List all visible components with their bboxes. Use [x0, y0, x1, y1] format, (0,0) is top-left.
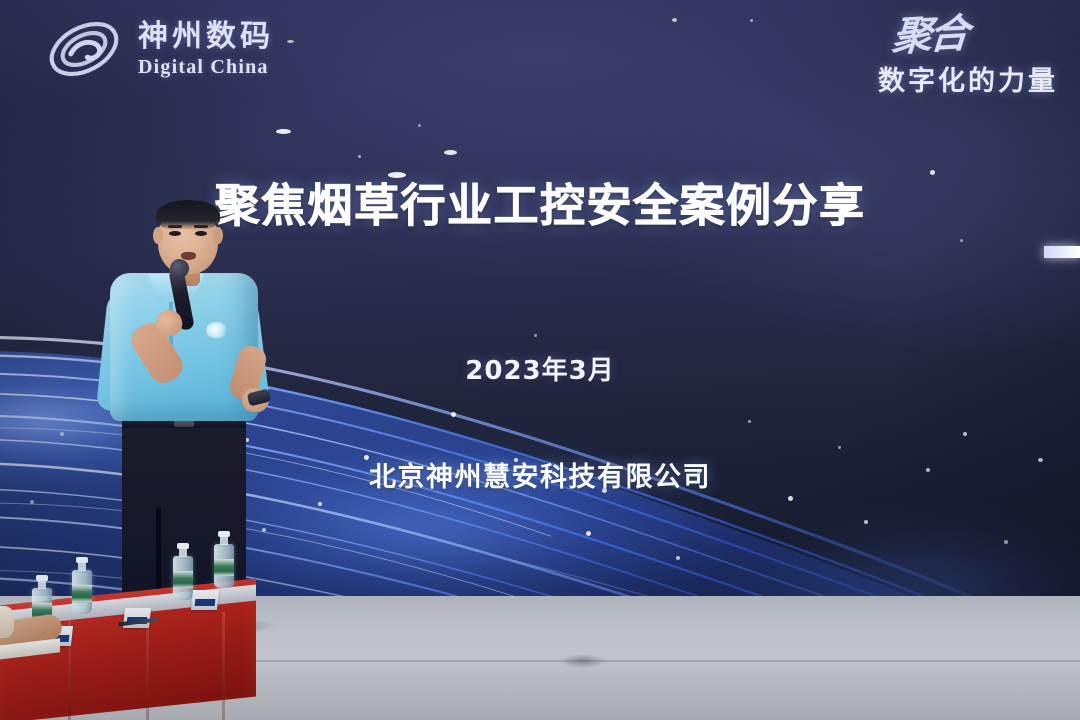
- bottle-neck: [78, 562, 86, 571]
- bottle-body: [214, 544, 234, 588]
- presenter-right-eye: [195, 231, 207, 236]
- screen-light-bar: [1044, 246, 1080, 258]
- name-card-stripe: [195, 599, 216, 606]
- brand-calligraphy: 聚合: [876, 16, 967, 57]
- presenter-hair: [156, 200, 220, 230]
- name-card: [192, 590, 218, 610]
- bottle-label: [173, 571, 193, 588]
- presenter-left-eyebrow: [168, 225, 182, 228]
- bottle-label: [72, 585, 92, 602]
- bottle-neck: [179, 548, 187, 557]
- bottle-neck: [220, 536, 228, 545]
- floor-scuff-mark: [560, 654, 606, 668]
- presenter-right-ear: [213, 227, 223, 244]
- water-bottle: [72, 570, 92, 614]
- event-brand: 聚合 数字化的力量: [878, 18, 1058, 98]
- tablecloth-fold: [222, 612, 225, 720]
- presenter-left-eye: [169, 231, 181, 236]
- digital-china-swirl-icon: [42, 16, 126, 82]
- presenter-right-eyebrow: [194, 225, 208, 228]
- bottle-neck: [38, 580, 46, 589]
- digital-china-logo: 神州数码 Digital China: [42, 16, 274, 82]
- conference-photo: 神州数码 Digital China 聚合 数字化的力量 聚焦烟草行业工控安全案…: [0, 0, 1080, 720]
- brand-subtitle: 数字化的力量: [878, 59, 1058, 98]
- logo-chinese-name: 神州数码: [138, 22, 274, 52]
- logo-english-name: Digital China: [138, 57, 274, 77]
- digital-china-wordmark: 神州数码 Digital China: [138, 22, 274, 77]
- bottle-body: [72, 570, 92, 614]
- bottle-body: [173, 556, 193, 600]
- seated-attendee: [0, 598, 66, 658]
- water-bottle: [173, 556, 193, 600]
- polo-chest-logo: [206, 322, 228, 338]
- attendee-sleeve: [0, 606, 14, 638]
- water-bottle: [214, 544, 234, 588]
- presenter-left-ear: [153, 227, 163, 244]
- bottle-label: [214, 559, 234, 576]
